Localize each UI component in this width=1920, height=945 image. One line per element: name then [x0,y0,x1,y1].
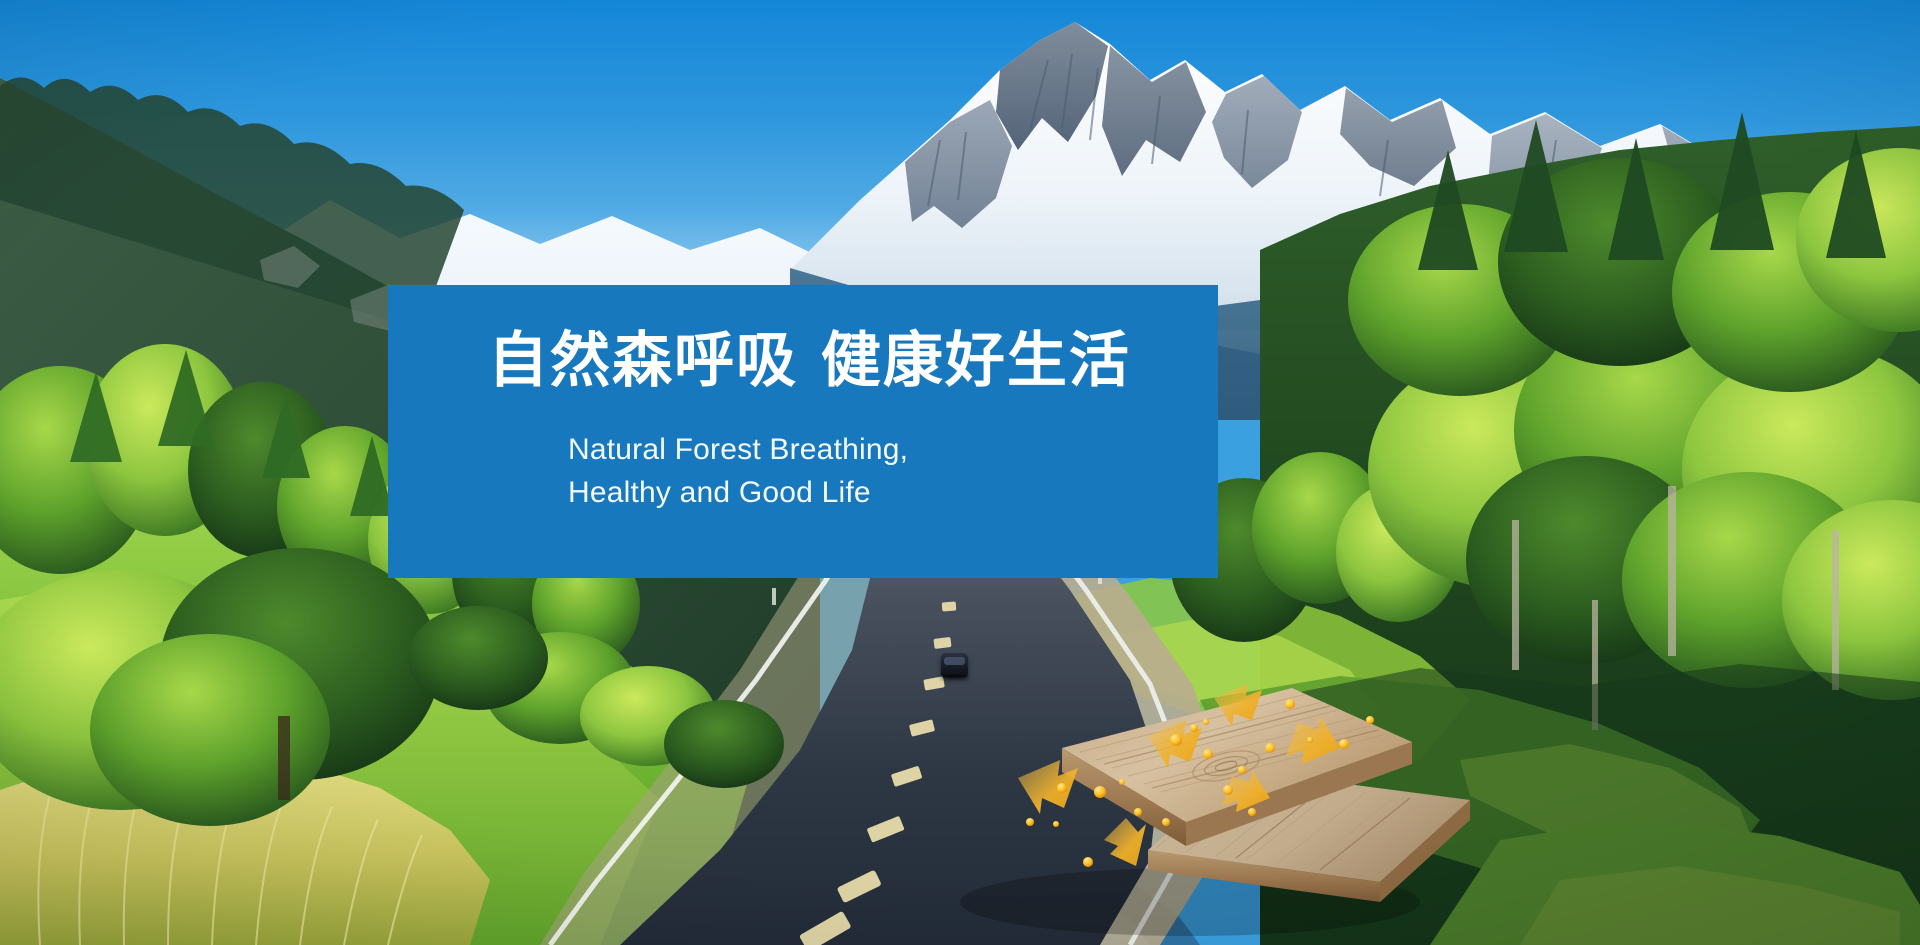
subtitle-line-1: Natural Forest Breathing, [568,429,908,472]
subtitle-line-2: Healthy and Good Life [568,472,908,515]
headline-panel: 自然森呼吸 健康好生活 Natural Forest Breathing, He… [388,285,1218,578]
page-title: 自然森呼吸 健康好生活 [488,326,1131,397]
subtitle: Natural Forest Breathing, Healthy and Go… [568,429,908,514]
arrow-up-right-icon-3 [1104,818,1146,866]
wood-flooring-planks [940,670,1500,945]
hero-banner: 自然森呼吸 健康好生活 Natural Forest Breathing, He… [0,0,1920,945]
